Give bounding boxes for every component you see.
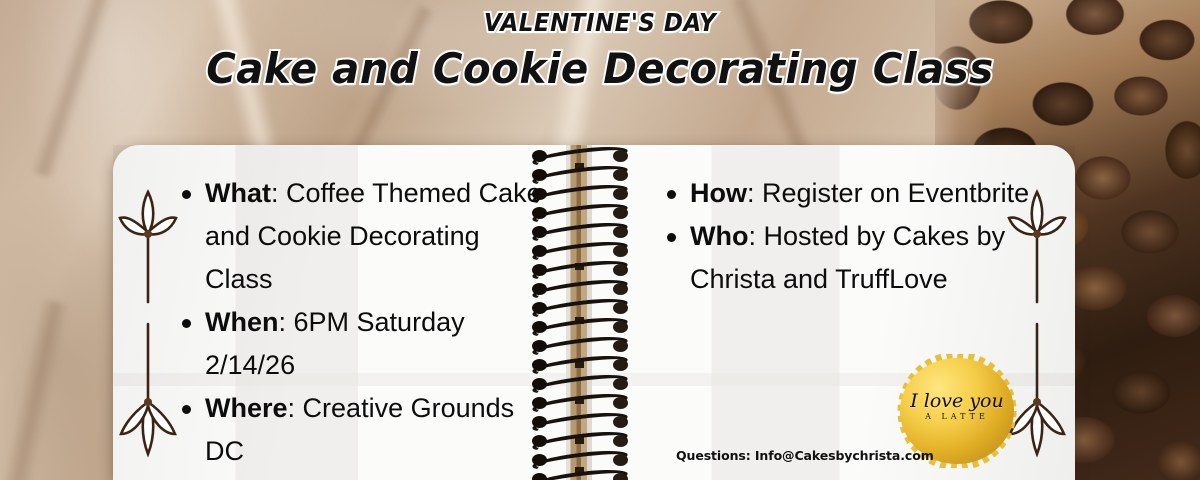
bullet-key: Where: [205, 393, 288, 423]
spiral-binding: [532, 145, 628, 480]
spiral-ring: [532, 339, 628, 354]
bullet-separator: :: [271, 178, 286, 208]
seal-subtitle: A LATTE: [900, 412, 1014, 421]
flyer-canvas: VALENTINE'S DAY Cake and Cookie Decorati…: [0, 0, 1200, 480]
spiral-ring: [532, 453, 628, 468]
spiral-ring: [532, 244, 628, 259]
spiral-ring: [532, 472, 628, 480]
bullet-separator: :: [279, 307, 294, 337]
bullet-separator: :: [748, 221, 763, 251]
spiral-ring: [532, 415, 628, 430]
spiral-ring: [532, 225, 628, 240]
right-details-column: How: Register on Eventbrite Who: Hosted …: [667, 172, 1037, 301]
spiral-ring: [532, 149, 628, 164]
arrow-leaf-ornament-left: [117, 172, 179, 462]
spiral-ring: [532, 206, 628, 221]
leaf-arrow-icon: [117, 172, 179, 462]
left-bullet-list: What: Coffee Themed Cake and Cookie Deco…: [182, 172, 542, 473]
list-item: Who: Hosted by Cakes by Christa and Truf…: [667, 215, 1037, 301]
spiral-ring: [532, 358, 628, 373]
right-bullet-list: How: Register on Eventbrite Who: Hosted …: [667, 172, 1037, 301]
spiral-ring: [532, 187, 628, 202]
bullet-key: When: [205, 307, 279, 337]
bullet-separator: :: [747, 178, 762, 208]
seal-script-text: I love you: [900, 392, 1014, 411]
spiral-ring: [532, 282, 628, 297]
spiral-ring: [532, 320, 628, 335]
list-item: When: 6PM Saturday 2/14/26: [182, 301, 542, 387]
list-item: Where: Creative Grounds DC: [182, 387, 542, 473]
list-item: What: Coffee Themed Cake and Cookie Deco…: [182, 172, 542, 301]
spiral-ring: [532, 301, 628, 316]
bullet-key: What: [205, 178, 271, 208]
bullet-key: How: [690, 178, 747, 208]
spiral-ring: [532, 168, 628, 183]
bullet-key: Who: [690, 221, 748, 251]
spiral-ring: [532, 377, 628, 392]
spiral-ring: [532, 263, 628, 278]
bullet-separator: :: [288, 393, 303, 423]
left-details-column: What: Coffee Themed Cake and Cookie Deco…: [182, 172, 542, 473]
questions-contact-line: Questions: Info@Cakesbychrista.com: [676, 448, 934, 463]
list-item: How: Register on Eventbrite: [667, 172, 1037, 215]
spiral-ring: [532, 434, 628, 449]
bullet-value: Register on Eventbrite: [762, 178, 1029, 208]
spiral-ring: [532, 396, 628, 411]
